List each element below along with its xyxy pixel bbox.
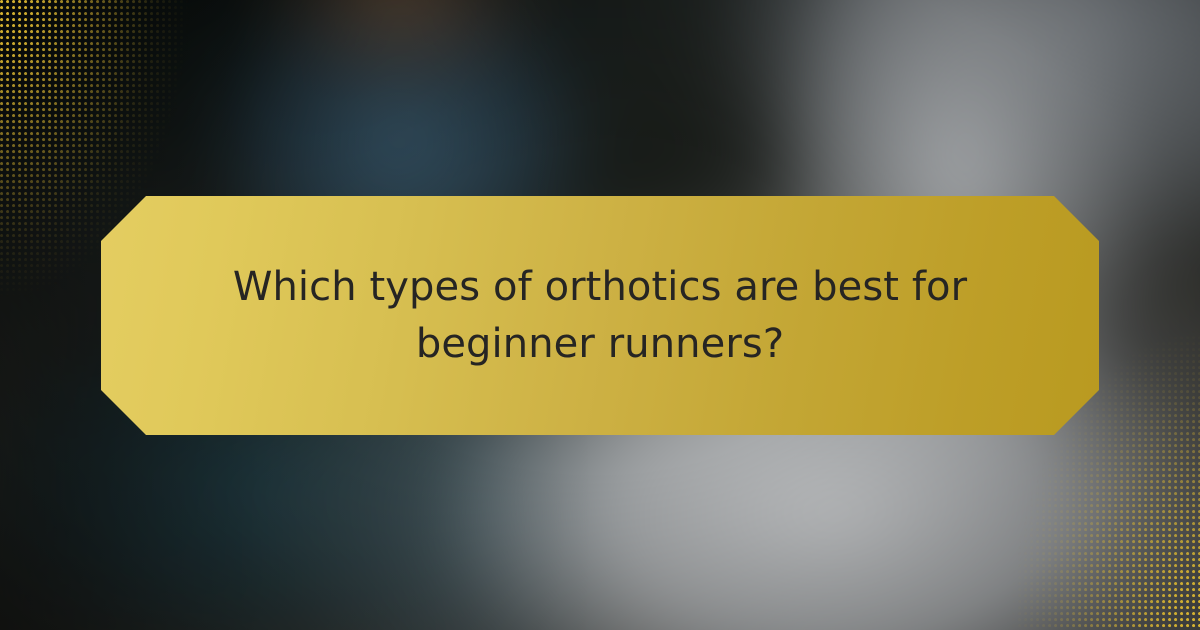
page-title: Which types of orthotics are best for be… xyxy=(171,259,1029,373)
social-card-canvas: Which types of orthotics are best for be… xyxy=(0,0,1200,630)
headline-banner: Which types of orthotics are best for be… xyxy=(101,196,1099,435)
